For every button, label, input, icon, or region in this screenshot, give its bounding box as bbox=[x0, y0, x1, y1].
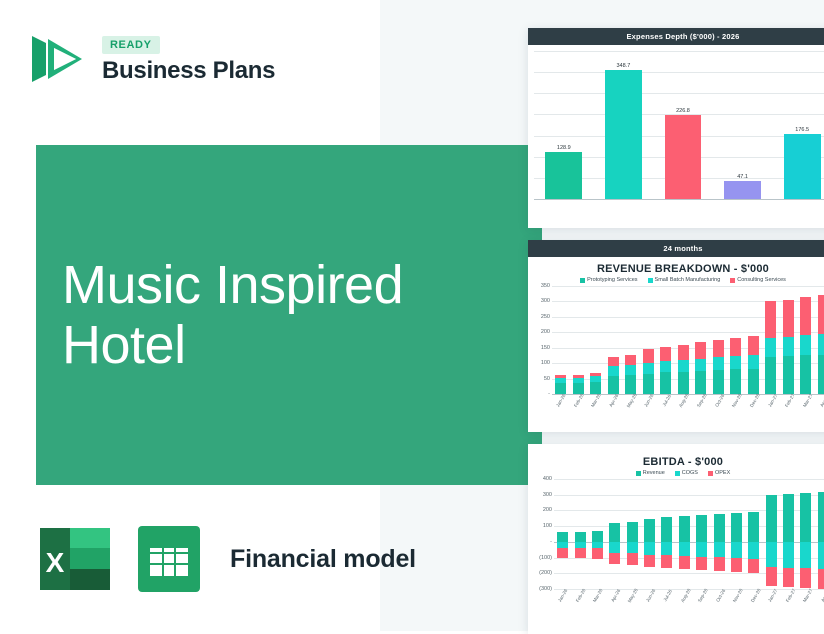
bar-segment bbox=[573, 378, 584, 384]
legend-label: Revenue bbox=[643, 470, 665, 476]
chart-card-expenses: Expenses Depth ($'000) - 2026 128.9 348.… bbox=[528, 28, 824, 228]
bar-column bbox=[676, 479, 693, 589]
bar-segment bbox=[661, 555, 672, 568]
bar-segment bbox=[609, 542, 620, 553]
bar-segment bbox=[573, 375, 584, 377]
bar-segment bbox=[748, 336, 759, 355]
legend-item: OPEX bbox=[708, 470, 730, 476]
bar-segment bbox=[818, 492, 824, 542]
bar-segment bbox=[592, 531, 603, 542]
bar-column bbox=[571, 479, 588, 589]
bar-segment bbox=[609, 553, 620, 565]
bar-segment bbox=[695, 371, 706, 394]
y-tick: (100) bbox=[539, 555, 552, 561]
bar-segment bbox=[800, 335, 811, 355]
bar-segment bbox=[643, 363, 654, 373]
y-tick: 300 bbox=[541, 298, 550, 304]
bar-segment bbox=[625, 355, 636, 365]
legend-swatch-icon bbox=[580, 278, 585, 283]
bar-segment bbox=[818, 569, 824, 589]
expenses-plot: 128.9 348.7 226.8 47.1 176.5 bbox=[534, 51, 824, 199]
legend-item: Prototyping Services bbox=[580, 277, 637, 283]
bar-column bbox=[675, 286, 693, 394]
legend-item: Small Batch Manufacturing bbox=[648, 277, 721, 283]
bar-value: 128.9 bbox=[557, 145, 571, 151]
legend-swatch-icon bbox=[648, 278, 653, 283]
bar-value: 226.8 bbox=[676, 108, 690, 114]
y-tick: - bbox=[550, 539, 552, 545]
bar-segment bbox=[643, 374, 654, 394]
page-title: Music Inspired Hotel bbox=[62, 255, 502, 376]
bar-segment bbox=[731, 513, 742, 542]
bar-column bbox=[727, 286, 745, 394]
bar-segment bbox=[695, 342, 706, 358]
bar-value: 47.1 bbox=[737, 174, 748, 180]
bar-column bbox=[710, 479, 727, 589]
bar-segment bbox=[731, 558, 742, 572]
y-axis-labels: 400 300 200 100 - (100) (200) (300) bbox=[534, 479, 554, 589]
bar-segment bbox=[748, 559, 759, 573]
chart-card-revenue: 24 months REVENUE BREAKDOWN - $'000 Prot… bbox=[528, 240, 824, 432]
expenses-bars: 128.9 348.7 226.8 47.1 176.5 bbox=[534, 51, 824, 199]
bar-column bbox=[622, 286, 640, 394]
bar-segment bbox=[731, 542, 742, 558]
y-tick: 200 bbox=[543, 507, 552, 513]
bar-segment bbox=[592, 548, 603, 558]
y-tick: 250 bbox=[541, 314, 550, 320]
bar-segment bbox=[678, 345, 689, 360]
bar-column bbox=[657, 286, 675, 394]
bar-segment bbox=[644, 519, 655, 542]
bar-column bbox=[797, 479, 814, 589]
revenue-chart-title: REVENUE BREAKDOWN - $'000 bbox=[528, 263, 824, 275]
revenue-x-axis: Jan-26Feb-26Mar-26Apr-26May-26Jun-26Jul-… bbox=[528, 394, 824, 420]
bar-segment bbox=[592, 542, 603, 549]
bar-segment bbox=[818, 355, 824, 394]
bar-column: 176.5 bbox=[772, 51, 824, 199]
bar-column bbox=[797, 286, 815, 394]
ebitda-chart-title: EBITDA - $'000 bbox=[528, 456, 824, 468]
bar-segment bbox=[800, 542, 811, 568]
card-header-months: 24 months bbox=[528, 240, 824, 257]
bar-segment bbox=[644, 555, 655, 568]
bar-segment bbox=[818, 295, 824, 333]
bar-column: 348.7 bbox=[594, 51, 654, 199]
y-tick: 300 bbox=[543, 492, 552, 498]
bar-segment bbox=[696, 557, 707, 571]
bar-segment bbox=[765, 301, 776, 337]
bar-segment bbox=[555, 378, 566, 384]
bar-segment bbox=[766, 495, 777, 542]
bar-column bbox=[606, 479, 623, 589]
bar-segment bbox=[643, 349, 654, 363]
legend-swatch-icon bbox=[730, 278, 735, 283]
microsoft-excel-icon: X bbox=[36, 520, 114, 598]
bar-column bbox=[589, 479, 606, 589]
bar-column bbox=[728, 479, 745, 589]
bar-column bbox=[815, 286, 824, 394]
bar-segment bbox=[625, 365, 636, 375]
bar-column bbox=[815, 479, 824, 589]
bar-segment bbox=[679, 556, 690, 569]
legend-item: COGS bbox=[675, 470, 698, 476]
svg-text:X: X bbox=[46, 547, 65, 578]
bar-segment bbox=[714, 514, 725, 542]
bar-segment bbox=[660, 372, 671, 394]
bar-value: 176.5 bbox=[795, 127, 809, 133]
bar-segment bbox=[608, 357, 619, 366]
bar-segment bbox=[800, 297, 811, 335]
bar-column bbox=[554, 479, 571, 589]
bar-segment bbox=[678, 372, 689, 394]
chart-card-ebitda: EBITDA - $'000 Revenue COGS OPEX 400 300… bbox=[528, 444, 824, 634]
bar-segment bbox=[748, 369, 759, 394]
bar-segment bbox=[730, 356, 741, 370]
bar-segment bbox=[590, 373, 601, 376]
revenue-legend: Prototyping Services Small Batch Manufac… bbox=[528, 277, 824, 283]
bar-segment bbox=[627, 542, 638, 554]
bar-segment bbox=[678, 360, 689, 372]
play-triangle-logo-icon bbox=[26, 28, 88, 90]
bar-column bbox=[780, 286, 798, 394]
brand-logo: READY Business Plans bbox=[26, 28, 275, 90]
y-tick: 50 bbox=[544, 376, 550, 382]
bar-segment bbox=[800, 355, 811, 394]
bar-column bbox=[693, 479, 710, 589]
bar-value: 348.7 bbox=[617, 63, 631, 69]
bar-segment bbox=[766, 542, 777, 567]
bar-column bbox=[780, 479, 797, 589]
card-header-expenses: Expenses Depth ($'000) - 2026 bbox=[528, 28, 824, 45]
legend-item: Consulting Services bbox=[730, 277, 786, 283]
bar-segment bbox=[783, 494, 794, 542]
bar-column bbox=[640, 286, 658, 394]
bar-segment bbox=[748, 355, 759, 369]
bar-column: 47.1 bbox=[713, 51, 773, 199]
bar-segment bbox=[555, 375, 566, 377]
bar-column bbox=[762, 286, 780, 394]
bar-segment bbox=[696, 542, 707, 557]
poster-page: READY Business Plans Music Inspired Hote… bbox=[0, 0, 824, 631]
bar-column bbox=[570, 286, 588, 394]
ebitda-x-axis: Jan-26Feb-26Mar-26Apr-26May-26Jun-26Jul-… bbox=[528, 589, 824, 615]
bar-segment bbox=[660, 347, 671, 362]
bar-segment bbox=[661, 517, 672, 542]
hero-block: Music Inspired Hotel bbox=[36, 145, 542, 485]
ebitda-legend: Revenue COGS OPEX bbox=[528, 470, 824, 476]
bar-segment bbox=[696, 515, 707, 541]
bar-column bbox=[624, 479, 641, 589]
bar-segment bbox=[765, 357, 776, 394]
bar-column: 226.8 bbox=[653, 51, 713, 199]
bar-segment bbox=[627, 553, 638, 565]
brand-name: Business Plans bbox=[102, 59, 275, 83]
bar-segment bbox=[783, 300, 794, 337]
revenue-bars bbox=[552, 286, 824, 394]
bar-segment bbox=[679, 542, 690, 556]
bar-segment bbox=[557, 532, 568, 542]
bar-segment bbox=[714, 542, 725, 557]
bar-segment bbox=[557, 548, 568, 558]
bar-segment bbox=[783, 337, 794, 357]
bar-segment bbox=[679, 516, 690, 541]
y-axis-labels: 350 300 250 200 150 100 50 - bbox=[534, 286, 552, 394]
bar-column bbox=[745, 286, 763, 394]
legend-label: Small Batch Manufacturing bbox=[655, 277, 721, 283]
legend-label: Prototyping Services bbox=[587, 277, 637, 283]
financial-model-label: Financial model bbox=[230, 545, 416, 574]
bar-column: 128.9 bbox=[534, 51, 594, 199]
bar-column bbox=[745, 479, 762, 589]
bar-segment bbox=[730, 369, 741, 394]
y-tick: 100 bbox=[541, 360, 550, 366]
bar-segment bbox=[609, 523, 620, 542]
legend-swatch-icon bbox=[708, 471, 713, 476]
legend-item: Revenue bbox=[636, 470, 665, 476]
bar-column bbox=[692, 286, 710, 394]
bar-column bbox=[605, 286, 623, 394]
google-sheets-icon bbox=[130, 520, 208, 598]
bar-segment bbox=[695, 359, 706, 371]
bar-segment bbox=[748, 512, 759, 542]
bar-column bbox=[641, 479, 658, 589]
bar-segment bbox=[748, 542, 759, 559]
bar-segment bbox=[713, 370, 724, 394]
bar-segment bbox=[765, 338, 776, 357]
ebitda-plot: 400 300 200 100 - (100) (200) (300) bbox=[534, 479, 824, 589]
legend-swatch-icon bbox=[636, 471, 641, 476]
bar-column bbox=[552, 286, 570, 394]
bar-segment bbox=[644, 542, 655, 555]
bar-segment bbox=[608, 376, 619, 395]
bar-segment bbox=[575, 548, 586, 558]
bar-segment bbox=[608, 366, 619, 375]
bar-segment bbox=[713, 340, 724, 357]
bar-column bbox=[710, 286, 728, 394]
bar-segment bbox=[818, 334, 824, 355]
bar-segment bbox=[714, 557, 725, 571]
bar-segment bbox=[660, 361, 671, 372]
bar-column bbox=[658, 479, 675, 589]
y-tick: (300) bbox=[539, 586, 552, 592]
bar-segment bbox=[766, 567, 777, 586]
bar-segment bbox=[627, 522, 638, 542]
y-tick: - bbox=[548, 391, 550, 397]
bar-segment bbox=[783, 542, 794, 568]
y-tick: 200 bbox=[541, 329, 550, 335]
y-tick: 100 bbox=[543, 523, 552, 529]
formats-row: X Financial model bbox=[36, 520, 416, 598]
y-tick: 150 bbox=[541, 345, 550, 351]
bar-segment bbox=[800, 568, 811, 587]
ebitda-bars bbox=[554, 479, 824, 589]
bar-segment bbox=[730, 338, 741, 356]
revenue-plot: 350 300 250 200 150 100 50 - bbox=[534, 286, 824, 394]
legend-label: OPEX bbox=[715, 470, 730, 476]
y-tick: (200) bbox=[539, 570, 552, 576]
bar-segment bbox=[800, 493, 811, 542]
legend-label: COGS bbox=[682, 470, 698, 476]
legend-swatch-icon bbox=[675, 471, 680, 476]
y-tick: 400 bbox=[543, 476, 552, 482]
y-tick: 350 bbox=[541, 283, 550, 289]
bar-segment bbox=[590, 376, 601, 382]
bar-segment bbox=[783, 568, 794, 587]
bar-segment bbox=[661, 542, 672, 556]
bar-segment bbox=[713, 357, 724, 370]
bar-segment bbox=[575, 532, 586, 542]
bar-segment bbox=[818, 542, 824, 569]
bar-column bbox=[587, 286, 605, 394]
bar-column bbox=[763, 479, 780, 589]
ready-badge: READY bbox=[102, 36, 160, 54]
legend-label: Consulting Services bbox=[737, 277, 786, 283]
bar-segment bbox=[783, 356, 794, 394]
